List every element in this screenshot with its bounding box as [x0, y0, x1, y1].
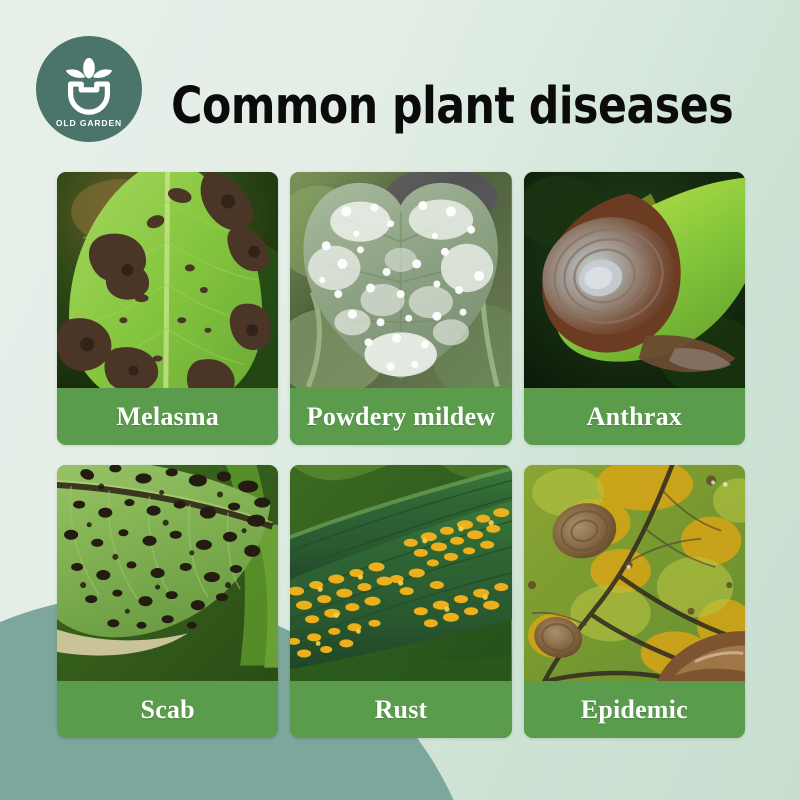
disease-photo-powdery-mildew	[290, 172, 511, 388]
disease-photo-anthrax	[524, 172, 745, 388]
page-title-text: Common plant diseases	[171, 77, 733, 136]
disease-card-grid: Melasma	[57, 172, 745, 738]
disease-photo-epidemic	[524, 465, 745, 681]
disease-label-band: Powdery mildew	[290, 388, 511, 445]
poster-canvas: OLD GARDEN Common plant diseases	[0, 0, 800, 800]
brand-logo: OLD GARDEN	[36, 36, 142, 142]
disease-label-band: Rust	[290, 681, 511, 738]
disease-card[interactable]: Scab	[57, 465, 278, 738]
disease-photo-rust	[290, 465, 511, 681]
disease-label-text: Melasma	[116, 402, 218, 432]
page-title: Common plant diseases	[172, 64, 732, 148]
disease-label-text: Anthrax	[587, 402, 682, 432]
disease-label-band: Anthrax	[524, 388, 745, 445]
disease-photo-scab	[57, 465, 278, 681]
disease-label-text: Scab	[141, 695, 195, 725]
disease-label-text: Epidemic	[581, 695, 688, 725]
disease-photo-melasma	[57, 172, 278, 388]
disease-card[interactable]: Powdery mildew	[290, 172, 511, 445]
logo-wordmark: OLD GARDEN	[56, 118, 122, 128]
disease-card[interactable]: Melasma	[57, 172, 278, 445]
disease-label-text: Rust	[375, 695, 428, 725]
plant-in-pot-icon	[58, 55, 120, 117]
disease-label-band: Melasma	[57, 388, 278, 445]
disease-label-text: Powdery mildew	[307, 402, 495, 432]
disease-card[interactable]: Epidemic	[524, 465, 745, 738]
disease-label-band: Scab	[57, 681, 278, 738]
disease-card[interactable]: Rust	[290, 465, 511, 738]
disease-card[interactable]: Anthrax	[524, 172, 745, 445]
disease-label-band: Epidemic	[524, 681, 745, 738]
